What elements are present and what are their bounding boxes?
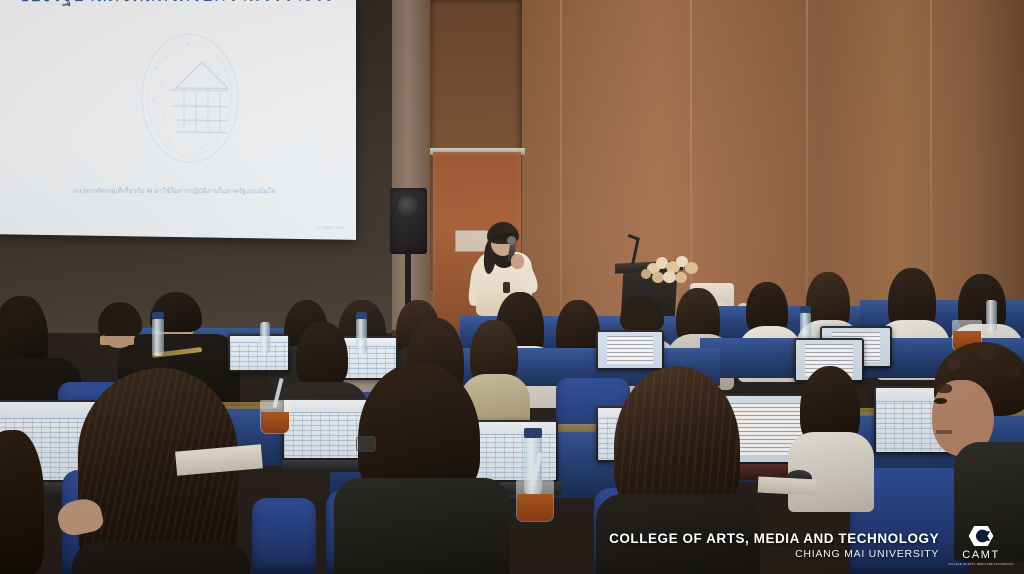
slide-title: ของรัฐบาลดิจิทัลที่ได้รับความไว้วางใจ [8,0,342,8]
camt-logo-subtext: COLLEGE OF ARTS, MEDIA AND TECHNOLOGY [948,563,1014,566]
paper-sheet [758,476,817,495]
wood-seam [560,0,562,340]
iced-tea [261,412,289,433]
eye [934,398,947,404]
water-bottle [356,318,367,354]
presenter-hand [511,254,524,269]
camt-logo: CAMT COLLEGE OF ARTS, MEDIA AND TECHNOLO… [948,525,1014,566]
brand-text-block: COLLEGE OF ARTS, MEDIA AND TECHNOLOGY CH… [609,532,939,560]
photo-stage: ของรัฐบาลดิจิทัลที่ได้รับความไว้วางใจ แน… [0,0,1024,574]
mouth [936,430,952,434]
microphone-head [507,236,516,245]
bottle-cap [356,312,367,319]
brand-university-name: CHIANG MAI UNIVERSITY [609,549,939,560]
chair [252,498,316,574]
door-sign [455,230,488,252]
presenter-badge [503,282,510,293]
brand-overlay: COLLEGE OF ARTS, MEDIA AND TECHNOLOGY CH… [609,525,1014,566]
camt-wordmark: CAMT [962,549,1000,561]
slide-credit: © CAMT CMU [316,225,344,230]
projection-screen: ของรัฐบาลดิจิทัลที่ได้รับความไว้วางใจ แน… [0,0,356,240]
bottle-cap [524,428,542,438]
water-bottle [986,300,997,332]
camt-hexagon-logo-icon [968,525,994,547]
water-bottle [152,318,164,356]
government-digital-emblem-icon [136,28,244,169]
water-bottle [260,322,270,354]
speaker-cone [398,196,418,216]
bottle-cap [152,312,164,319]
eyeglasses-icon [356,436,376,452]
eyebrow [936,384,952,393]
slide-subtitle: แนวทางจัดกลุ่มที่เกี่ยวกับ AI มาใช้ในการ… [24,186,324,197]
bottle-cap [800,306,811,313]
brand-college-name: COLLEGE OF ARTS, MEDIA AND TECHNOLOGY [609,532,939,546]
iced-tea [517,494,553,521]
